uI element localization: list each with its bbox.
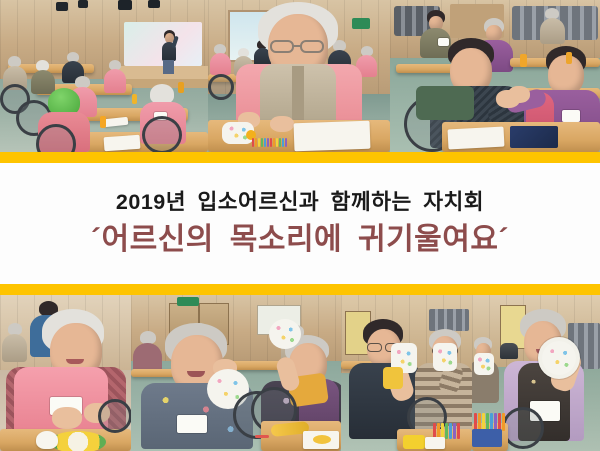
photo-bottom-1 <box>0 295 131 451</box>
photo-bottom-4 <box>472 295 600 451</box>
band-bottom <box>0 284 600 295</box>
photo-row-top <box>0 0 600 152</box>
photo-top-right <box>390 0 600 152</box>
photo-bottom-2 <box>131 295 341 451</box>
photo-row-bottom <box>0 295 600 451</box>
page-title-main: 2019년 입소어르신과 함께하는 자치회 <box>116 192 484 214</box>
photo-top-left <box>0 0 208 152</box>
title-block: 2019년 입소어르신과 함께하는 자치회 ´어르신의 목소리에 귀기울여요´ <box>0 163 600 284</box>
poster-canvas: 2019년 입소어르신과 함께하는 자치회 ´어르신의 목소리에 귀기울여요´ <box>0 0 600 451</box>
band-top <box>0 152 600 163</box>
photo-bottom-3 <box>341 295 472 451</box>
page-title-sub: ´어르신의 목소리에 귀기울여요´ <box>91 225 509 255</box>
photo-top-center <box>208 0 390 152</box>
